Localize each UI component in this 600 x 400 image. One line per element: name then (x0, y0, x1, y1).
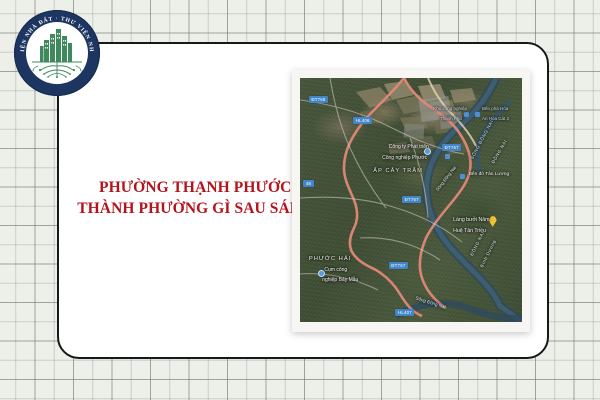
industrial-poi-marker[interactable] (318, 270, 325, 277)
ferry-poi-a-marker[interactable] (464, 112, 469, 117)
road-shield-dt767-c[interactable]: ĐT767 (389, 262, 408, 269)
road-shield-hl407[interactable]: HL407 (395, 309, 414, 316)
road-shield-dt767-a[interactable]: ĐT767 (442, 144, 461, 151)
thu-vien-nha-dat-logo: THƯ VIỆN NHÀ ĐẤT · THƯ VIỆN NHÀ ĐẤT www.… (14, 10, 100, 96)
road-shield-48[interactable]: 48 (303, 180, 313, 187)
road-shield-dt768[interactable]: ĐT768 (309, 96, 328, 103)
bridge-poi-marker[interactable] (424, 148, 431, 155)
station-poi-marker[interactable] (445, 154, 450, 159)
road-shield-hl406[interactable]: HL406 (353, 117, 372, 124)
ferry-poi-b-marker[interactable] (475, 112, 480, 117)
map-photo-frame: ĐT768 HL406 48 ĐT767 ĐT767 ĐT767 HL407 C… (292, 70, 530, 332)
satellite-map[interactable]: ĐT768 HL406 48 ĐT767 ĐT767 ĐT767 HL407 C… (300, 78, 522, 322)
road-shield-dt767-b[interactable]: ĐT767 (402, 196, 421, 203)
ferry-dock-poi-marker[interactable] (460, 174, 465, 179)
logo-artwork: THƯ VIỆN NHÀ ĐẤT · THƯ VIỆN NHÀ ĐẤT www.… (14, 10, 100, 96)
screenshot-canvas: PHƯỜNG THẠNH PHƯỚC ĐỔI THÀNH PHƯỜNG GÌ S… (0, 0, 600, 400)
